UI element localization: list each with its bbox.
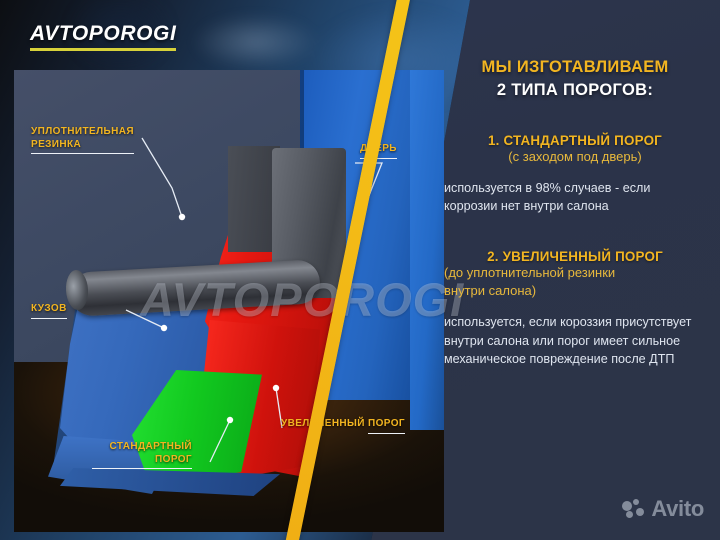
section-standard-body: используется в 98% случаев - если корроз… — [444, 179, 706, 216]
callout-body-label: КУЗОВ — [31, 303, 67, 319]
section-standard: 1. СТАНДАРТНЫЙ ПОРОГ (с заходом под двер… — [444, 133, 706, 216]
callout-standard-line2: ПОРОГ — [92, 454, 192, 470]
callout-rubber-seal-line1: УПЛОТНИТЕЛЬНАЯ — [31, 126, 134, 137]
avito-watermark: Avito — [622, 496, 704, 522]
promo-image: УПЛОТНИТЕЛЬНАЯ РЕЗИНКА ДВЕРЬ КУЗОВ СТАНД… — [0, 0, 720, 540]
section-standard-title: 1. СТАНДАРТНЫЙ ПОРОГ — [444, 133, 706, 148]
section-standard-subtitle: (с заходом под дверь) — [444, 149, 706, 166]
headline-line2: 2 ТИПА ПОРОГОВ: — [444, 79, 706, 102]
headline-line1: МЫ ИЗГОТАВЛИВАЕМ — [444, 56, 706, 79]
callout-rubber-seal: УПЛОТНИТЕЛЬНАЯ РЕЗИНКА — [31, 126, 134, 154]
section-enlarged-subtitle-line2: внутри салона) — [444, 283, 706, 300]
marketing-copy: МЫ ИЗГОТАВЛИВАЕМ 2 ТИПА ПОРОГОВ: 1. СТАН… — [444, 56, 706, 368]
section-enlarged-subtitle-line1: (до уплотнительной резинки — [444, 265, 706, 282]
avito-wordmark: Avito — [651, 496, 704, 522]
section-enlarged-title: 2. УВЕЛИЧЕННЫЙ ПОРОГ — [444, 249, 706, 264]
logo: AVTOPOROGI — [30, 22, 176, 51]
section-enlarged: 2. УВЕЛИЧЕННЫЙ ПОРОГ (до уплотнительной … — [444, 249, 706, 368]
callout-standard-line1: СТАНДАРТНЫЙ — [110, 441, 193, 452]
callout-enlarged-sill: УВЕЛИЧЕННЫЙ ПОРОГ — [281, 418, 405, 434]
section-enlarged-body: используется, если короззия присутствует… — [444, 313, 706, 368]
headline: МЫ ИЗГОТАВЛИВАЕМ 2 ТИПА ПОРОГОВ: — [444, 56, 706, 103]
logo-text: AVTOPOROGI — [30, 22, 176, 46]
callout-enlarged-line2: ПОРОГ — [368, 418, 405, 434]
callout-standard-sill: СТАНДАРТНЫЙ ПОРОГ — [92, 441, 192, 469]
logo-underline — [30, 48, 176, 51]
callout-rubber-seal-line2: РЕЗИНКА — [31, 139, 134, 155]
avito-dots-icon — [622, 499, 648, 519]
callout-body: КУЗОВ — [31, 303, 67, 319]
